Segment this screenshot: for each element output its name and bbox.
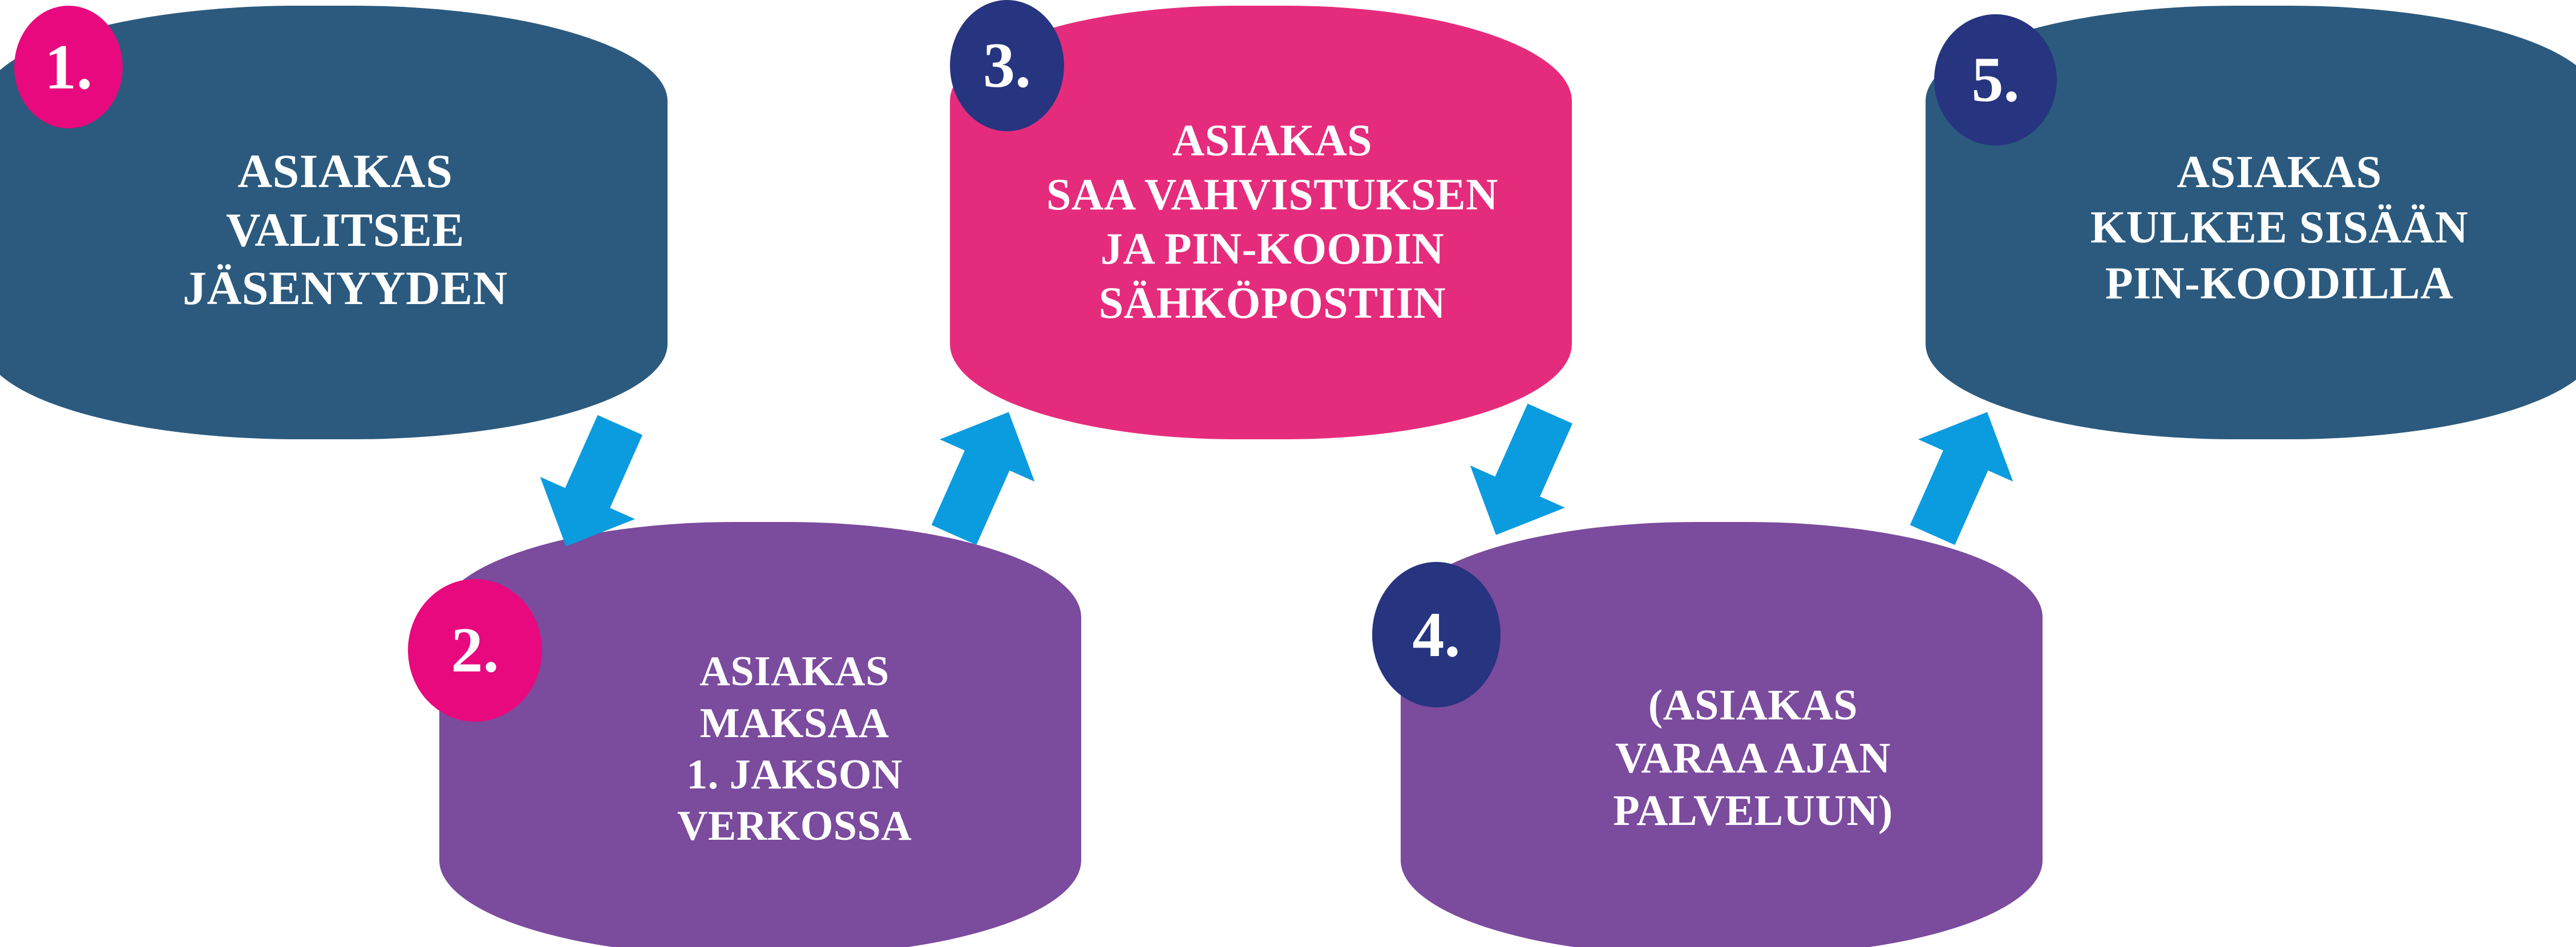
step-4-line-1: (ASIAKAS: [1648, 679, 1858, 732]
step-3-line-1: ASIAKAS: [1172, 113, 1372, 167]
step-badge-1[interactable]: 1.: [14, 6, 123, 128]
step-card-3-text: ASIAKAS SAA VAHVISTUKSEN JA PIN-KOODIN S…: [939, 113, 1583, 330]
step-card-4-text: (ASIAKAS VARAA AJAN PALVELUUN): [1369, 679, 2074, 837]
step-card-4[interactable]: (ASIAKAS VARAA AJAN PALVELUUN): [1401, 522, 2043, 947]
step-2-line-1: ASIAKAS: [699, 646, 889, 697]
step-badge-5[interactable]: 5.: [1934, 14, 2057, 145]
step-1-line-2: VALITSEE: [226, 201, 464, 260]
step-2-line-4: VERKOSSA: [677, 800, 912, 852]
step-4-line-3: PALVELUUN): [1613, 784, 1893, 837]
step-2-line-2: MAKSAA: [700, 698, 889, 749]
step-3-line-4: SÄHKÖPOSTIIN: [1099, 276, 1446, 330]
step-5-line-2: KULKEE SISÄÄN: [2090, 200, 2468, 256]
step-4-line-2: VARAA AJAN: [1615, 732, 1891, 785]
step-badge-3[interactable]: 3.: [950, 0, 1064, 131]
step-badge-2[interactable]: 2.: [408, 579, 542, 722]
arrow-step1-to-step2-icon: [528, 414, 659, 556]
arrow-step3-to-step4-icon: [1458, 402, 1589, 545]
process-flow-diagram: ASIAKAS VALITSEE JÄSENYYDEN 1. ASIAKAS S…: [0, 0, 2576, 947]
step-card-2[interactable]: ASIAKAS MAKSAA 1. JAKSON VERKOSSA: [439, 522, 1081, 947]
step-badge-4[interactable]: 4.: [1372, 562, 1501, 707]
step-5-line-1: ASIAKAS: [2177, 145, 2381, 201]
arrow-step2-to-step3-icon: [916, 399, 1047, 548]
step-3-line-3: JA PIN-KOODIN: [1101, 221, 1444, 276]
step-2-line-3: 1. JAKSON: [686, 749, 903, 800]
step-3-line-2: SAA VAHVISTUKSEN: [1046, 167, 1498, 221]
step-1-line-1: ASIAKAS: [238, 143, 453, 201]
step-card-1-text: ASIAKAS VALITSEE JÄSENYYDEN: [0, 143, 688, 318]
step-card-5-text: ASIAKAS KULKEE SISÄÄN PIN-KOODILLA: [1908, 145, 2576, 312]
arrow-step4-to-step5-icon: [1894, 399, 2025, 548]
step-5-line-3: PIN-KOODILLA: [2105, 256, 2454, 312]
step-1-line-3: JÄSENYYDEN: [183, 260, 508, 318]
